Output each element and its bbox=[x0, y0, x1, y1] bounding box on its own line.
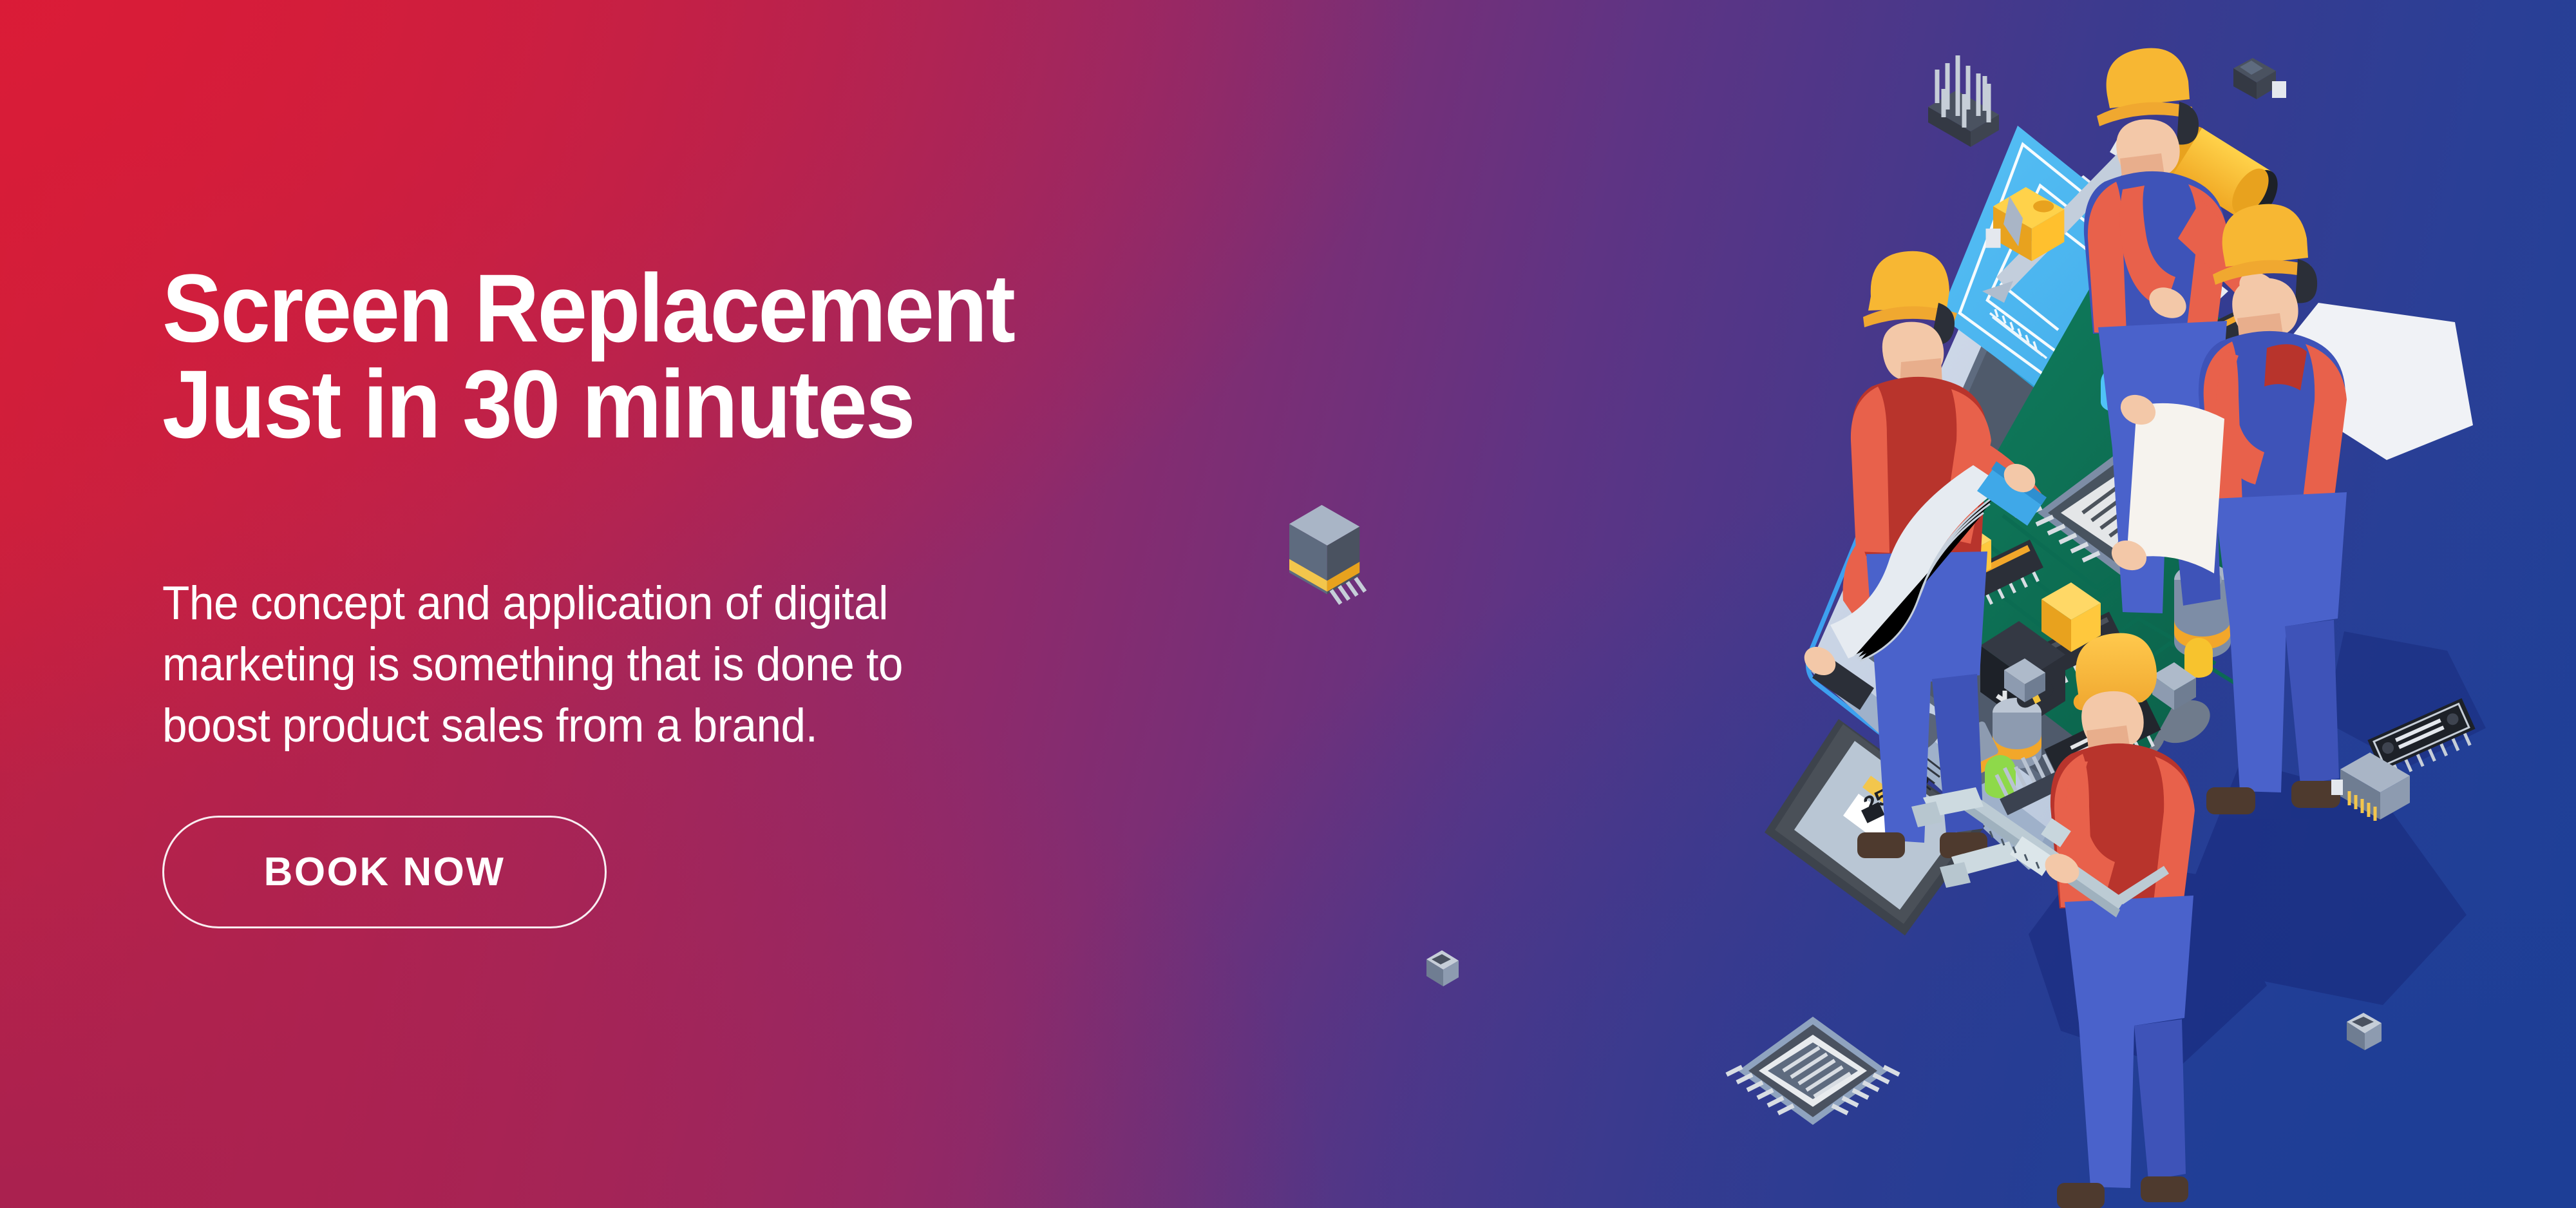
hero-banner: Screen Replacement Just in 30 minutes Th… bbox=[0, 0, 2576, 1208]
smd-chip-floating bbox=[2233, 58, 2286, 99]
page-title: Screen Replacement Just in 30 minutes bbox=[162, 260, 1180, 452]
isometric-phone-repair-illustration: 256GB bbox=[1288, 0, 2576, 1208]
led-green bbox=[1985, 755, 2016, 798]
copy-block: Screen Replacement Just in 30 minutes Th… bbox=[162, 260, 1257, 452]
led-yellow bbox=[2184, 638, 2213, 678]
smd-cube-bottom-left bbox=[1426, 950, 1459, 986]
ic-floating-left bbox=[1289, 505, 1365, 604]
cpu-chip-floating bbox=[1727, 1017, 1899, 1125]
book-now-button[interactable]: BOOK NOW bbox=[162, 816, 607, 928]
smd-cube-bottom-right bbox=[2347, 1013, 2382, 1050]
body-paragraph: The concept and application of digital m… bbox=[162, 573, 1080, 757]
book-now-label: BOOK NOW bbox=[264, 849, 506, 895]
pin-comb-component bbox=[1928, 55, 1999, 147]
